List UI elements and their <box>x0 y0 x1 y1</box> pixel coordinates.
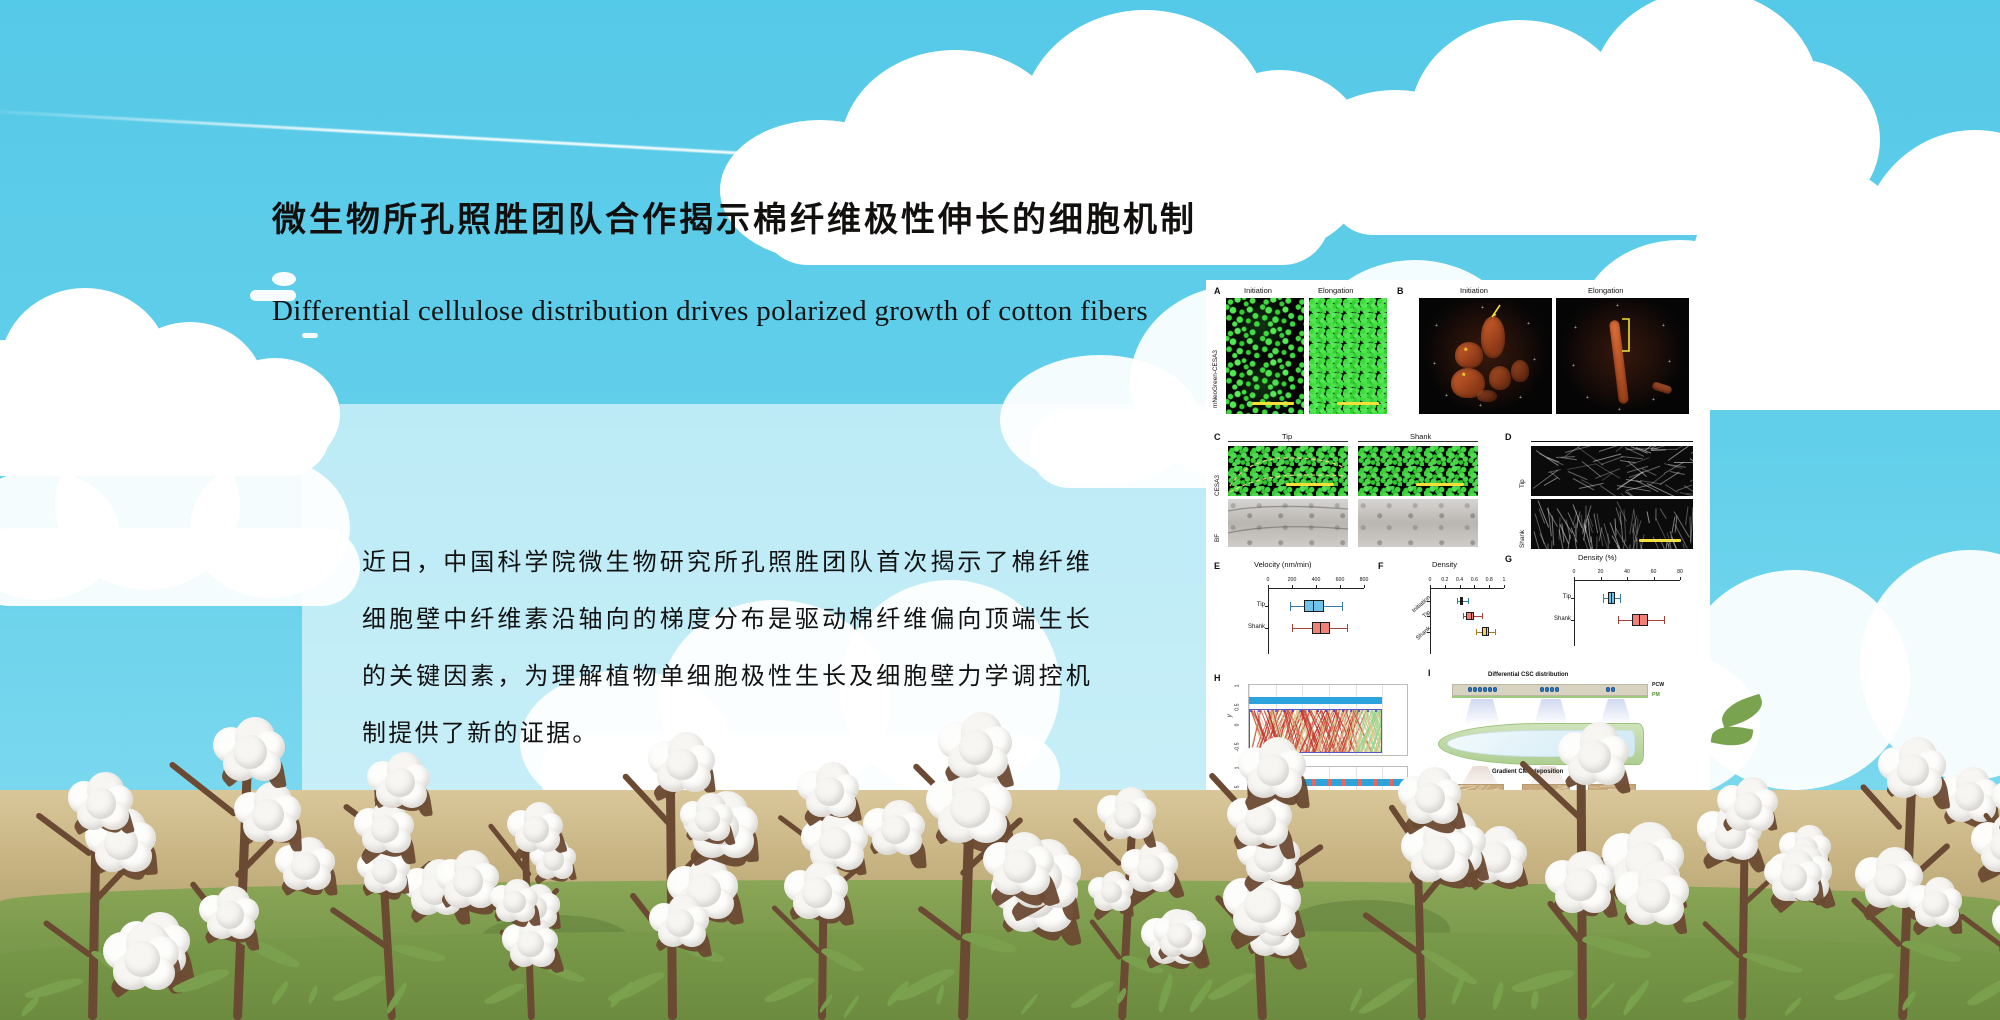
boxplot-whisker-cap <box>1476 629 1477 635</box>
boll-lobe <box>1421 836 1455 870</box>
x-tick-label: 0 <box>1422 577 1438 583</box>
x-tick <box>1654 577 1655 580</box>
boxplot-whisker-cap <box>1618 616 1619 624</box>
category-label: Shank <box>1538 616 1571 622</box>
boll-lobe <box>86 788 117 819</box>
panel-b-arrow-icon <box>1487 304 1503 320</box>
cotton-boll <box>646 894 711 955</box>
boxplot-whisker-cap <box>1290 602 1291 610</box>
boll-lobe <box>1137 855 1164 882</box>
panel-d-image-shank <box>1531 499 1693 549</box>
boll-lobe <box>1992 781 2000 812</box>
boxplot-box <box>1312 622 1331 634</box>
y-tick <box>1571 598 1574 599</box>
x-axis-line <box>1268 588 1364 589</box>
panel-f-plot: 00.20.40.60.81InitiationTipShank <box>1392 574 1510 656</box>
cmf-fibril <box>1596 536 1597 549</box>
panel-h-ytick-label: 1 <box>1235 685 1241 702</box>
x-tick <box>1460 585 1461 588</box>
x-tick <box>1364 585 1365 588</box>
cmf-fibril <box>1646 511 1649 523</box>
cotton-plant <box>1955 750 2000 1020</box>
plant-branch <box>917 905 963 942</box>
panel-d-rule <box>1531 441 1693 442</box>
x-tick-label: 0 <box>1566 569 1582 575</box>
panel-a-axis-label: mNeoGreen-CESA3 <box>1212 302 1219 408</box>
plant-branch <box>42 919 92 958</box>
cmf-fibril <box>1651 450 1666 452</box>
plant-leaf <box>484 978 525 1010</box>
cotton-boll <box>1094 787 1158 847</box>
y-axis-line <box>1268 588 1269 654</box>
panel-c-label: C <box>1214 432 1221 442</box>
x-tick-label: 600 <box>1332 577 1348 583</box>
boll-lobe <box>216 901 244 929</box>
panel-b-image-elongation: ++ ++ ++ ++ <box>1556 298 1689 414</box>
cmf-fibril <box>1629 544 1630 549</box>
tiny-cloud-6 <box>196 383 230 391</box>
panel-i-pm-label: PM <box>1652 692 1660 698</box>
x-tick <box>1474 585 1475 588</box>
boll-lobe <box>802 877 832 907</box>
boll-lobe <box>1992 902 2000 937</box>
boll-lobe <box>233 735 267 769</box>
panel-c-rule-shank <box>1358 441 1478 442</box>
plant-leaf <box>1070 976 1116 1015</box>
panel-b-image-initiation: * * ++ ++ ++ ++ <box>1419 298 1552 414</box>
boxplot-median <box>1320 622 1321 634</box>
cmf-fibril <box>1675 525 1688 549</box>
x-tick <box>1601 577 1602 580</box>
cotton-boll <box>209 717 287 791</box>
boll-lobe <box>815 777 844 806</box>
boxplot-whisker-cap <box>1664 616 1665 624</box>
panel-b-asterisk-2: * <box>1462 372 1466 381</box>
boll-lobe <box>385 768 415 798</box>
cmf-fibril <box>1690 470 1693 482</box>
x-axis-line <box>1430 588 1504 589</box>
tiny-cloud-5 <box>228 374 254 390</box>
x-tick-label: 0.8 <box>1481 577 1497 583</box>
cotton-boll <box>504 802 565 860</box>
boxplot-box <box>1632 614 1648 626</box>
boll-lobe <box>291 852 319 880</box>
boll-lobe <box>252 799 284 831</box>
plant-branch <box>1702 920 1743 959</box>
x-tick-label: 20 <box>1593 569 1609 575</box>
x-tick <box>1680 577 1681 580</box>
plant-leaf <box>1358 972 1416 1020</box>
boll-lobe <box>1636 879 1670 913</box>
x-tick <box>1489 585 1490 588</box>
panel-a-image-initiation <box>1226 298 1304 414</box>
y-tick <box>1571 620 1574 621</box>
cotton-boll <box>99 922 182 1001</box>
panel-c-rule-tip <box>1228 441 1348 442</box>
panel-d-image-tip <box>1531 446 1693 496</box>
boll-lobe <box>695 807 720 832</box>
panel-f-title: Density <box>1432 560 1457 569</box>
boll-lobe <box>819 827 851 859</box>
cotton-boll <box>1761 850 1823 909</box>
cmf-fibril <box>1623 509 1626 541</box>
plant-branch <box>1089 919 1123 961</box>
x-tick <box>1574 577 1575 580</box>
panel-h-label: H <box>1214 673 1221 683</box>
cotton-boll <box>780 861 850 927</box>
cotton-boll <box>487 879 539 929</box>
panel-i-csc-caption: Differential CSC distribution <box>1488 672 1568 678</box>
page-title: 微生物所孔照胜团队合作揭示棉纤维极性伸长的细胞机制 <box>272 192 1372 241</box>
boxplot-whisker-cap <box>1292 624 1293 632</box>
panel-c-row-cesa3: CESA3 <box>1214 450 1221 496</box>
panel-e-plot: 0200400600800TipShank <box>1230 574 1370 656</box>
x-tick <box>1340 585 1341 588</box>
panel-c-scalebar-tip <box>1286 483 1334 486</box>
panel-f-label: F <box>1378 561 1384 571</box>
cotton-boll <box>196 886 261 947</box>
x-tick-label: 0 <box>1260 577 1276 583</box>
cotton-boll <box>1874 737 1948 807</box>
plant-leaf <box>1834 965 1895 1007</box>
panel-b-label: B <box>1397 286 1404 296</box>
panel-c-col-tip: Tip <box>1282 432 1292 441</box>
x-tick-label: 200 <box>1284 577 1300 583</box>
boxplot-median <box>1639 614 1640 626</box>
panel-c-image-shank-bf <box>1358 499 1478 547</box>
panel-c-row-bf: BF <box>1214 502 1221 542</box>
boxplot-whisker-cap <box>1495 629 1496 635</box>
poster-canvas: 微生物所孔照胜团队合作揭示棉纤维极性伸长的细胞机制 Differential c… <box>0 0 2000 1020</box>
plant-leaf <box>1511 962 1574 998</box>
cmf-fibril <box>1686 506 1689 525</box>
x-tick <box>1430 585 1431 588</box>
cotton-boll <box>364 752 432 817</box>
panel-d-row-tip: Tip <box>1519 452 1526 488</box>
boll-lobe <box>1415 783 1445 813</box>
cmf-fibril <box>1648 473 1665 486</box>
boll-lobe <box>503 891 526 914</box>
boll-lobe <box>666 749 698 781</box>
panel-g-plot: 020406080TipShank <box>1536 566 1686 648</box>
panel-a-scalebar-1 <box>1252 402 1294 405</box>
panel-c-col-shank: Shank <box>1410 432 1431 441</box>
x-tick-label: 80 <box>1672 569 1688 575</box>
boxplot-whisker-cap <box>1603 594 1604 602</box>
boxplot-whisker-cap <box>1620 594 1621 602</box>
category-label: Tip <box>1232 602 1265 608</box>
tiny-cloud-3 <box>302 333 318 338</box>
panel-i-pm-bar <box>1452 696 1648 698</box>
boxplot-whisker-cap <box>1457 598 1458 604</box>
panel-h-blue-bar <box>1249 697 1382 704</box>
plant-leaf <box>764 971 815 1008</box>
panel-i-pcw-label: PCW <box>1652 682 1664 688</box>
boxplot-whisker-cap <box>1463 613 1464 619</box>
x-tick-label: 400 <box>1308 577 1324 583</box>
plant-leaf <box>1901 933 1961 968</box>
boxplot-median <box>1611 592 1612 604</box>
y-axis-line <box>1574 580 1575 646</box>
boxplot-whisker-cap <box>1347 624 1348 632</box>
cotton-boll <box>794 762 861 825</box>
x-tick <box>1445 585 1446 588</box>
cmf-fibril <box>1621 456 1643 459</box>
boxplot-whisker-cap <box>1468 598 1469 604</box>
x-tick-label: 0.6 <box>1466 577 1482 583</box>
plant-leaf <box>1742 946 1803 979</box>
cotton-boll <box>64 772 134 839</box>
cmf-fibril <box>1692 522 1693 535</box>
cotton-boll <box>1541 851 1616 923</box>
plant-leaf <box>1966 973 2000 1011</box>
panel-b-bracket-icon <box>1620 318 1632 352</box>
boxplot-box <box>1304 600 1324 612</box>
x-tick-label: 40 <box>1619 569 1635 575</box>
x-tick <box>1627 577 1628 580</box>
plant-leaf <box>1420 943 1477 990</box>
panel-g-title: Density (%) <box>1578 553 1617 562</box>
cotton-boll <box>1989 772 2000 835</box>
x-tick <box>1268 585 1269 588</box>
y-tick <box>1265 606 1268 607</box>
panel-b-col-elongation: Elongation <box>1588 286 1623 295</box>
panel-b-col-initiation: Initiation <box>1460 286 1488 295</box>
boll-lobe <box>124 941 160 977</box>
boxplot-median <box>1461 597 1462 605</box>
plant-branch <box>1362 912 1423 957</box>
boll-lobe <box>372 859 397 884</box>
cotton-boll <box>644 732 717 801</box>
plant-leaf <box>172 961 230 999</box>
boxplot-whisker-cap <box>1342 602 1343 610</box>
x-tick-label: 0.2 <box>1437 577 1453 583</box>
cmf-fibril <box>1568 471 1587 480</box>
boll-lobe <box>1922 891 1948 917</box>
x-tick-label: 0.4 <box>1452 577 1468 583</box>
x-axis-line <box>1574 580 1680 581</box>
cmf-fibril <box>1591 536 1595 549</box>
cmf-fibril <box>1660 509 1667 520</box>
boll-lobe <box>371 815 399 843</box>
cmf-fibril <box>1691 446 1693 454</box>
panel-e-title: Velocity (nm/min) <box>1254 560 1312 569</box>
y-tick <box>1265 628 1268 629</box>
panel-i-label: I <box>1428 668 1431 678</box>
cotton-boll <box>1234 737 1308 807</box>
cotton-boll <box>1554 722 1631 795</box>
panel-e-label: E <box>1214 561 1220 571</box>
cotton-boll <box>1988 892 2000 964</box>
panel-a-scalebar-2 <box>1337 402 1379 405</box>
cmf-fibril <box>1647 483 1675 496</box>
x-tick-label: 800 <box>1356 577 1372 583</box>
panel-c-image-tip-cesa3 <box>1228 446 1348 496</box>
panel-c-image-tip-bf <box>1228 499 1348 547</box>
cmf-fibril <box>1547 543 1548 549</box>
cotton-boll <box>934 712 1014 788</box>
cotton-boll <box>979 832 1056 905</box>
plant-leaf <box>332 969 385 1008</box>
boxplot-median <box>1486 627 1487 635</box>
panel-d-row-shank: Shank <box>1519 504 1526 548</box>
panel-b-asterisk-1: * <box>1464 347 1468 356</box>
panel-d-label: D <box>1505 432 1512 442</box>
cmf-fibril <box>1556 456 1575 458</box>
boxplot-whisker-cap <box>1482 613 1483 619</box>
x-tick-label: 60 <box>1646 569 1662 575</box>
category-label: Tip <box>1538 594 1571 600</box>
cotton-boll <box>1150 910 1207 964</box>
panel-a-label: A <box>1214 286 1221 296</box>
tiny-cloud-2 <box>272 272 296 286</box>
panel-i-cone-1 <box>1464 699 1500 725</box>
panel-a-col-initiation: Initiation <box>1244 286 1272 295</box>
cotton-boll <box>1714 777 1779 839</box>
panel-g-label: G <box>1505 554 1512 564</box>
boll-husk <box>1996 810 2000 835</box>
plant-leaf <box>821 942 865 978</box>
x-tick <box>1292 585 1293 588</box>
cotton-boll <box>1086 871 1135 918</box>
cotton-boll <box>1394 767 1463 832</box>
plant-leaf <box>1207 966 1256 1007</box>
panel-c-scalebar-shank <box>1416 483 1464 486</box>
cotton-boll <box>230 782 303 851</box>
boll-lobe <box>523 816 549 842</box>
category-label: Shank <box>1232 624 1265 630</box>
cotton-boll <box>677 793 735 848</box>
plant-leaf <box>392 938 446 967</box>
x-tick <box>1316 585 1317 588</box>
panel-a-image-elongation <box>1309 298 1387 414</box>
x-tick-label: 1 <box>1496 577 1512 583</box>
panel-c-image-shank-cesa3 <box>1358 446 1478 496</box>
plant-leaf <box>1682 973 1735 1009</box>
boxplot-median <box>1471 612 1472 620</box>
x-tick <box>1504 585 1505 588</box>
panel-a-col-elongation: Elongation <box>1318 286 1353 295</box>
boxplot-median <box>1313 600 1314 612</box>
cotton-boll <box>1611 860 1690 935</box>
